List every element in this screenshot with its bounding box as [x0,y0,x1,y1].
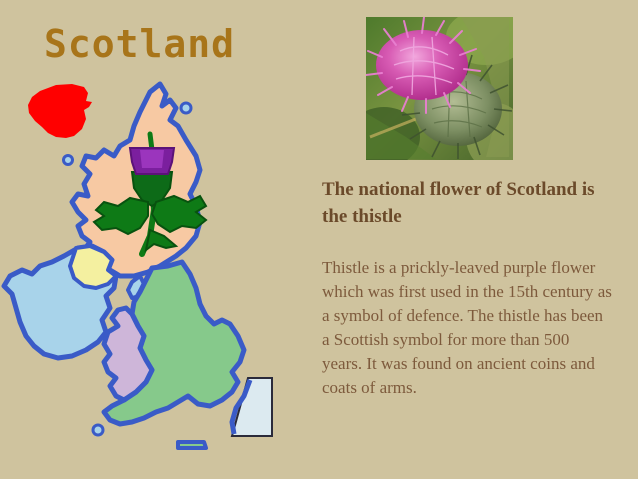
thistle-leaf-left [94,198,148,234]
british-isles-map [0,70,300,460]
thistle-leaf-right [152,196,206,232]
page-title: Scotland [44,22,235,66]
thistle-flower-highlight [140,150,164,168]
map-graphic [0,70,300,460]
presentation-slide: Scotland [0,0,638,479]
content-heading: The national flower of Scotland is the t… [322,176,602,230]
map-channel-islands [178,442,206,448]
map-island-dot-west [64,156,73,165]
map-island-dot-north [181,103,191,113]
content-body: Thistle is a prickly-leaved purple flowe… [322,256,612,400]
map-island-dot-south [93,425,103,435]
thistle-photo [366,17,513,160]
thistle-photo-image [366,17,513,160]
